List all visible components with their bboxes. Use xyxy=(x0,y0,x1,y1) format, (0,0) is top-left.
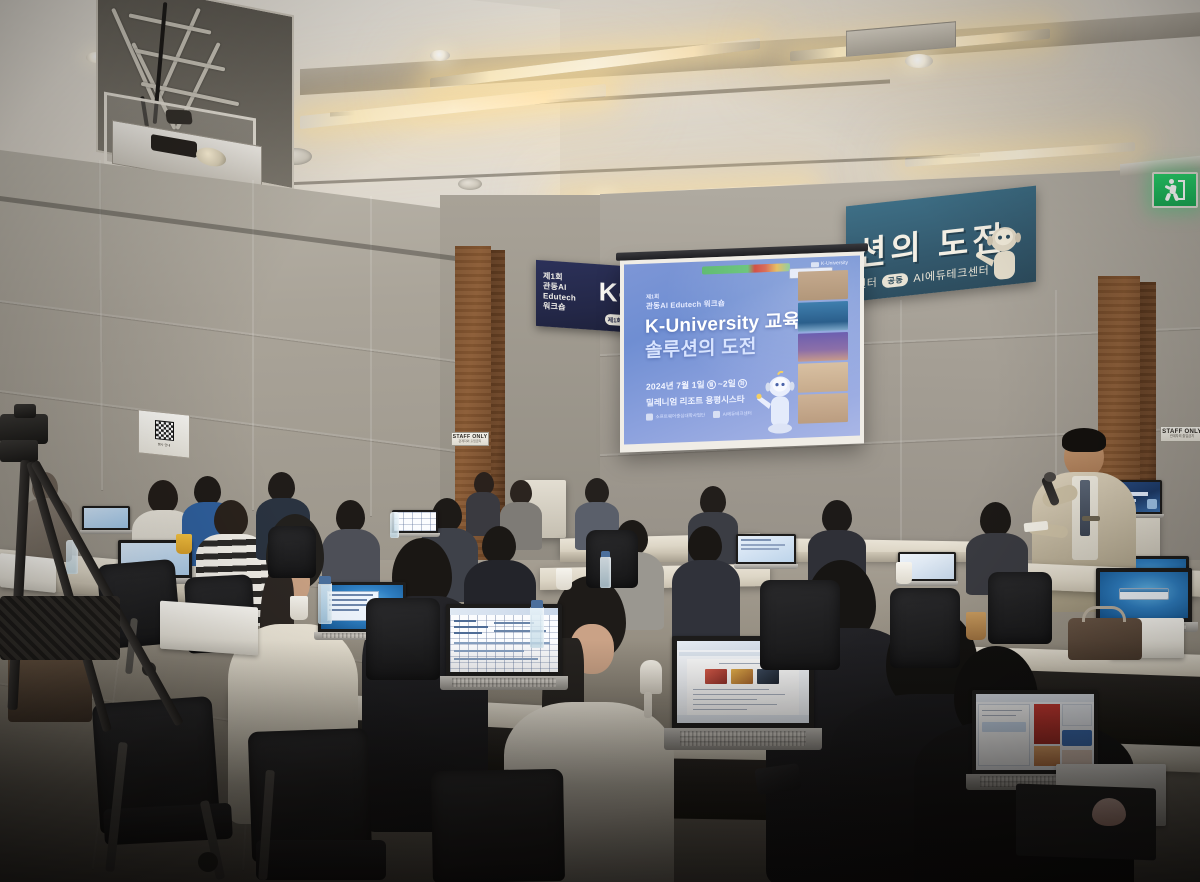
chair-far-1-back xyxy=(586,530,638,588)
slide-sidebar-cards xyxy=(798,270,848,424)
water-bottle-1[interactable] xyxy=(318,582,332,624)
presenter-hair xyxy=(1062,428,1106,452)
laptop-far-right[interactable] xyxy=(736,534,796,572)
microphone-head xyxy=(1044,472,1056,482)
chair-far-3-back xyxy=(988,572,1052,644)
chair-mid-5-back xyxy=(890,588,960,668)
slide-logo-1: 소프트웨어중심대학사업단 xyxy=(646,411,705,420)
slide-date-text: 2024년 7월 1일 xyxy=(646,378,705,392)
water-bottle-5[interactable] xyxy=(530,606,544,648)
slide-title: K-University 교육 솔루션의 도전 xyxy=(645,310,800,365)
slide-card-5 xyxy=(798,393,848,424)
backpack-floor xyxy=(8,650,92,722)
drink-cup-3[interactable] xyxy=(896,562,912,584)
chair-front-left-wheel xyxy=(198,852,218,872)
presenter-lanyard xyxy=(1082,516,1100,521)
laptop-far-mid-screen xyxy=(394,512,436,531)
door-sign-secondary-text: 관계자외 출입금지 xyxy=(459,440,482,443)
exit-door-frame-icon xyxy=(1178,180,1185,200)
water-bottle-2[interactable] xyxy=(600,556,611,588)
slide-date-suffix: ~2일 xyxy=(718,377,736,390)
projector-adjust-knob[interactable] xyxy=(165,109,193,124)
attendee-mid-4 xyxy=(672,526,738,638)
drink-cup-2[interactable] xyxy=(556,568,572,590)
slide-sidebar-logo: K-University xyxy=(811,260,848,267)
slide-card-1 xyxy=(798,270,848,301)
slide-browser-bar xyxy=(702,263,790,274)
conference-room-photo: STAFF ONLY 관계자외 출입금지 STAFF ONLY 관계자외 출입금… xyxy=(0,0,1200,882)
slide-card-2 xyxy=(798,301,848,332)
slide-logo-2-text: AI에듀테크센터 xyxy=(723,410,752,417)
water-bottle-5-cap xyxy=(531,600,543,608)
slide-title-line2: 솔루션의 도전 xyxy=(645,334,800,364)
chair-mid-3-back xyxy=(366,598,440,680)
handbag-on-table xyxy=(1068,618,1142,660)
white-box-left xyxy=(0,553,56,593)
staff-only-secondary-text: 관계자외 출입금지 xyxy=(1170,435,1194,438)
slide-logo-2-mark xyxy=(713,411,720,418)
laptop-far-left-screen xyxy=(84,508,128,528)
presenter-necktie xyxy=(1080,480,1090,536)
handheld-fan-handle xyxy=(644,692,652,718)
downlight-3 xyxy=(905,54,933,68)
emergency-exit-sign xyxy=(1152,172,1198,208)
white-box-mid xyxy=(160,601,258,656)
video-camera-head xyxy=(0,440,38,462)
handbag-handle xyxy=(1082,606,1126,622)
slide-day2-badge: 화 xyxy=(738,378,747,387)
slide-logo-2: AI에듀테크센터 xyxy=(713,410,752,418)
video-camera-top-handle xyxy=(14,404,36,418)
water-bottle-3[interactable] xyxy=(390,512,399,538)
laptop-browser-screen xyxy=(976,694,1094,770)
slide-day1-badge: 월 xyxy=(707,380,716,389)
drink-cup-1[interactable] xyxy=(290,596,308,620)
laptop-far-right-screen xyxy=(738,536,794,562)
slide-kicker: 제1회 관동AI Edutech 워크숍 xyxy=(646,292,725,313)
presentation-slide: 제1회 관동AI Edutech 워크숍 K-University 교육 솔루션… xyxy=(624,255,860,444)
slide-card-3 xyxy=(798,332,848,363)
qr-code-icon xyxy=(155,420,174,441)
slide-card-4 xyxy=(798,362,848,393)
qr-caption: 행사 안내 xyxy=(158,441,171,447)
door-sign-staff-only: STAFF ONLY 관계자외 출입금지 xyxy=(451,432,489,446)
computer-mouse[interactable] xyxy=(1092,798,1126,826)
slide-sidebar-logo-text: K-University xyxy=(821,260,848,267)
chair-front-mid-seat xyxy=(256,840,386,880)
downlight-2 xyxy=(430,50,450,61)
chair-far-2-back xyxy=(268,526,316,578)
staff-only-sign: STAFF ONLY 관계자외 출입금지 xyxy=(1160,426,1200,442)
slide-robot-mascot-icon xyxy=(756,370,802,436)
handheld-fan[interactable] xyxy=(640,660,662,694)
banner-right-badge: 공동 xyxy=(882,272,908,288)
slide-venue-text: 밀레니엄 리조트 용평시스타 xyxy=(646,393,745,409)
water-bottle-2-cap xyxy=(601,551,610,557)
qr-code-poster: 행사 안내 xyxy=(138,409,190,458)
banner-left-text-block: 제1회 관동AI Edutech 워크숍 xyxy=(543,271,576,313)
slide-logo-1-text: 소프트웨어중심대학사업단 xyxy=(656,412,706,420)
mouse-pad xyxy=(1016,784,1156,861)
water-bottle-1-cap xyxy=(319,576,331,584)
slide-logo-1-mark xyxy=(646,413,653,420)
slide-date-row: 2024년 7월 1일 월 ~2일 화 xyxy=(646,377,747,393)
slide-logo-row: 소프트웨어중심대학사업단 AI에듀테크센터 xyxy=(646,410,752,421)
laptop-far-left[interactable] xyxy=(82,506,130,536)
slide-sidebar-logo-mark xyxy=(811,262,819,267)
robot-mascot-icon xyxy=(974,218,1030,286)
chair-mid-4-back xyxy=(760,580,840,670)
chair-front-right-back xyxy=(431,769,565,882)
drink-cup-orange[interactable] xyxy=(176,534,192,554)
projection-screen[interactable]: 제1회 관동AI Edutech 워크숍 K-University 교육 솔루션… xyxy=(620,251,864,452)
ceiling-speaker-3 xyxy=(458,178,482,190)
equipment-case xyxy=(0,596,120,660)
running-person-icon xyxy=(1164,178,1186,202)
laptop-spreadsheet-large[interactable] xyxy=(446,604,562,696)
iced-coffee-cup[interactable] xyxy=(966,612,986,640)
